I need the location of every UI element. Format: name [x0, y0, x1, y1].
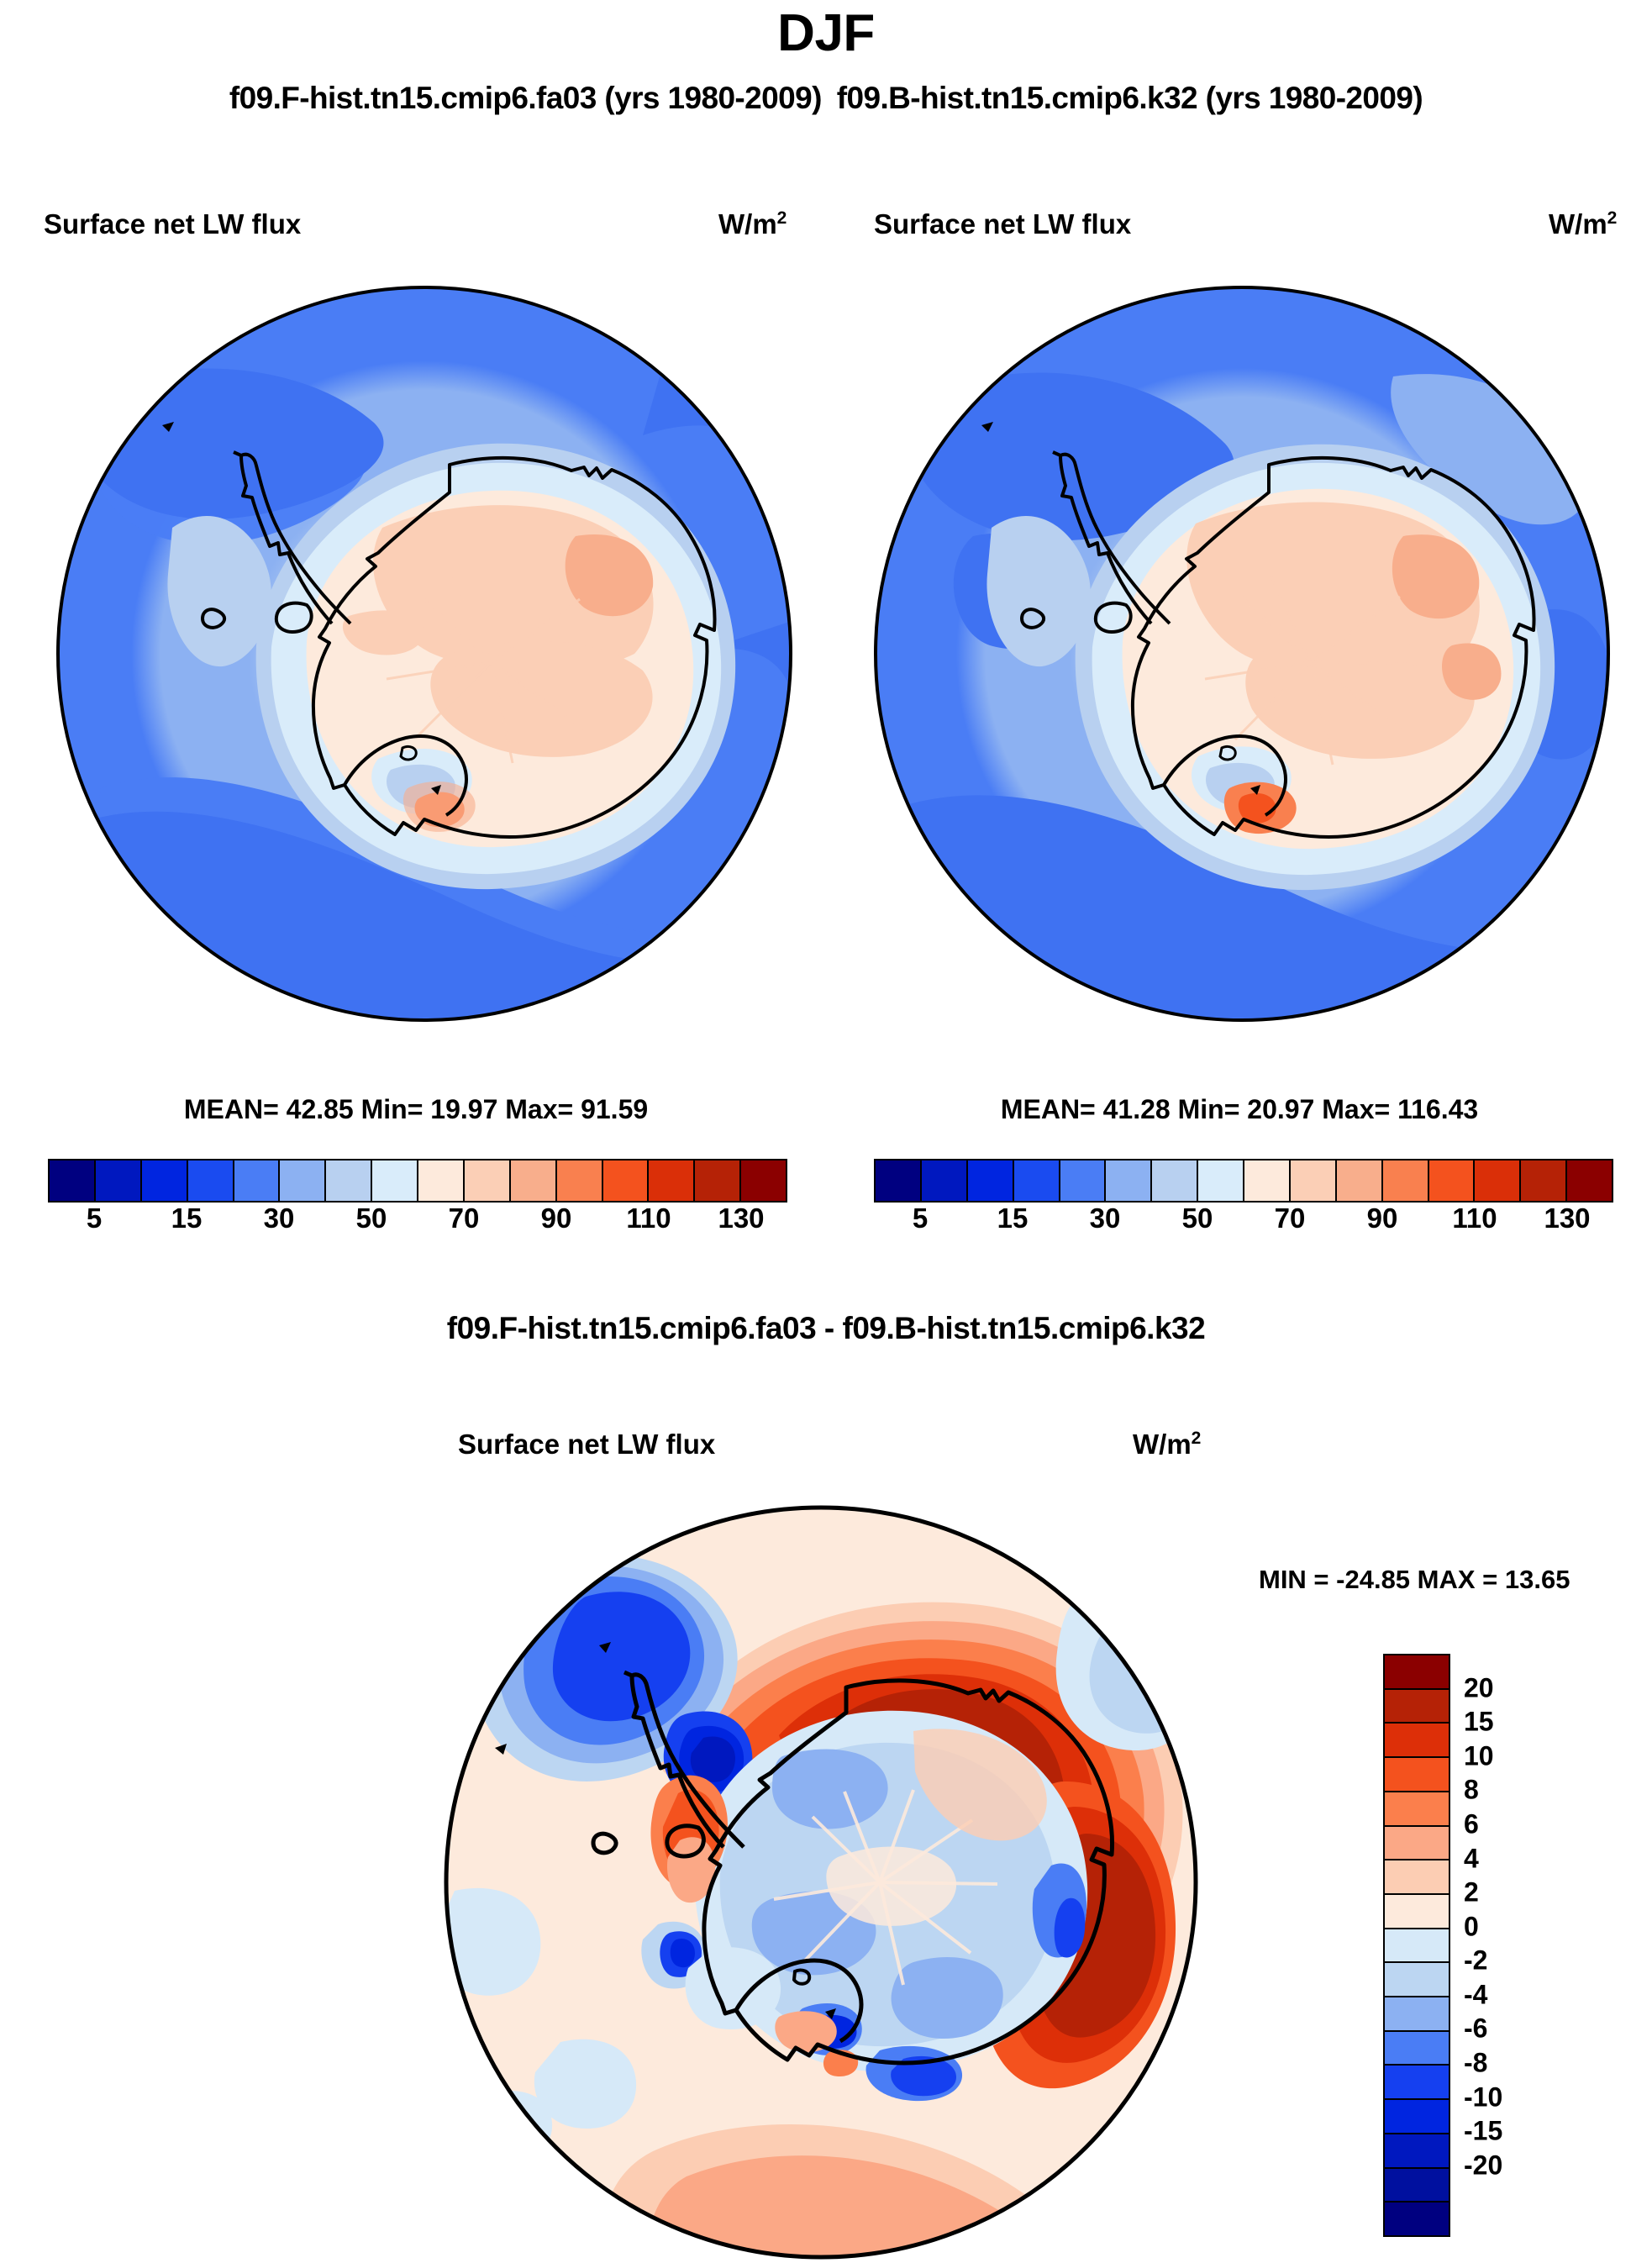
right-unit-exponent: 2: [1607, 208, 1618, 228]
colorbar-cell: [280, 1160, 326, 1201]
colorbar-cell: [1291, 1160, 1337, 1201]
left-panel-stats: MEAN= 42.85 Min= 19.97 Max= 91.59: [0, 1094, 832, 1125]
colorbar-cell: [1385, 2032, 1449, 2066]
colorbar-cell: [50, 1160, 96, 1201]
colorbar-cell: [1385, 2066, 1449, 2100]
colorbar-tick-label: 50: [1182, 1203, 1213, 1234]
colorbar-tick-label: 15: [171, 1203, 203, 1234]
diff-map-svg: [443, 1504, 1199, 2260]
colorbar-tick-label: 90: [1367, 1203, 1398, 1234]
colorbar-cell: [1383, 1160, 1429, 1201]
diff-panel-unit-label: W/m2: [1133, 1429, 1201, 1460]
colorbar-cell: [1521, 1160, 1567, 1201]
left-colorbar[interactable]: 51530507090110130: [48, 1159, 787, 1243]
colorbar-cell: [1385, 1792, 1449, 1827]
left-map-svg: [55, 284, 794, 1024]
colorbar-tick-label: 0: [1464, 1911, 1479, 1942]
colorbar-cell: [1385, 1929, 1449, 1964]
colorbar-cell: [1385, 1895, 1449, 1929]
colorbar-tick-label: 130: [718, 1203, 764, 1234]
colorbar-tick-label: -15: [1464, 2116, 1502, 2147]
right-map-svg: [872, 284, 1612, 1024]
colorbar-cell: [1385, 1827, 1449, 1861]
colorbar-cell: [1385, 1758, 1449, 1792]
diff-colorbar[interactable]: [1383, 1654, 1450, 2234]
right-unit-text: W/m: [1549, 208, 1607, 239]
right-colorbar[interactable]: 51530507090110130: [874, 1159, 1613, 1243]
colorbar-cell: [1385, 1724, 1449, 1758]
colorbar-cell: [511, 1160, 557, 1201]
colorbar-tick-label: -4: [1464, 1979, 1487, 2010]
colorbar-cell: [1106, 1160, 1152, 1201]
colorbar-tick-label: 15: [1464, 1707, 1494, 1738]
colorbar-tick-label: -6: [1464, 2013, 1487, 2045]
colorbar-tick-label: 5: [913, 1203, 928, 1234]
colorbar-cell: [1385, 1655, 1449, 1690]
colorbar-tick-label: -20: [1464, 2150, 1502, 2181]
left-panel-field-label: Surface net LW flux: [44, 208, 301, 240]
diff-unit-text: W/m: [1133, 1429, 1192, 1460]
colorbar-cell: [326, 1160, 372, 1201]
colorbar-cell: [188, 1160, 234, 1201]
colorbar-cell: [1385, 2169, 1449, 2203]
colorbar-tick-label: 10: [1464, 1740, 1494, 1771]
left-unit-text: W/m: [718, 208, 777, 239]
colorbar-tick-label: 2: [1464, 1877, 1479, 1908]
colorbar-cell: [649, 1160, 695, 1201]
right-panel-unit-label: W/m2: [1549, 208, 1617, 240]
colorbar-tick-label: 90: [541, 1203, 572, 1234]
colorbar-cell: [1385, 1860, 1449, 1895]
difference-title: f09.F-hist.tn15.cmip6.fa03 - f09.B-hist.…: [0, 1311, 1652, 1346]
colorbar-cell: [557, 1160, 603, 1201]
colorbar-cell: [465, 1160, 511, 1201]
colorbar-cell: [1244, 1160, 1291, 1201]
colorbar-cell: [418, 1160, 465, 1201]
colorbar-tick-label: -10: [1464, 2081, 1502, 2113]
diff-panel-field-label: Surface net LW flux: [458, 1429, 715, 1460]
colorbar-tick-label: 50: [356, 1203, 387, 1234]
colorbar-tick-label: 110: [626, 1203, 671, 1234]
page-title: DJF: [0, 3, 1652, 63]
colorbar-cell: [1385, 1690, 1449, 1724]
diff-minmax-label: MIN = -24.85 MAX = 13.65: [1259, 1565, 1570, 1595]
colorbar-cell: [234, 1160, 281, 1201]
diff-colorbar-ticks: 20151086420-2-4-6-8-10-15-20: [1464, 1654, 1590, 2234]
left-map-panel[interactable]: [55, 284, 794, 1024]
colorbar-tick-label: -8: [1464, 2048, 1487, 2079]
colorbar-tick-label: -2: [1464, 1945, 1487, 1976]
colorbar-cell: [1152, 1160, 1198, 1201]
colorbar-tick-label: 30: [264, 1203, 295, 1234]
colorbar-tick-label: 8: [1464, 1775, 1479, 1806]
colorbar-cell: [876, 1160, 922, 1201]
left-panel-unit-label: W/m2: [718, 208, 787, 240]
case-titles-row: f09.F-hist.tn15.cmip6.fa03 (yrs 1980-200…: [0, 81, 1652, 116]
diff-map-panel[interactable]: [443, 1504, 1199, 2260]
colorbar-tick-label: 5: [87, 1203, 102, 1234]
right-panel-stats: MEAN= 41.28 Min= 20.97 Max= 116.43: [823, 1094, 1652, 1125]
colorbar-cell: [372, 1160, 418, 1201]
colorbar-cell: [1385, 2134, 1449, 2169]
left-colorbar-strip[interactable]: [48, 1159, 787, 1203]
colorbar-cell: [142, 1160, 188, 1201]
colorbar-tick-label: 110: [1452, 1203, 1497, 1234]
colorbar-cell: [1385, 2100, 1449, 2134]
colorbar-tick-label: 70: [1275, 1203, 1306, 1234]
case-title-right: f09.B-hist.tn15.cmip6.k32 (yrs 1980-2009…: [837, 81, 1423, 116]
colorbar-cell: [1567, 1160, 1612, 1201]
colorbar-tick-label: 6: [1464, 1808, 1479, 1839]
left-unit-exponent: 2: [777, 208, 787, 228]
colorbar-cell: [1198, 1160, 1244, 1201]
colorbar-tick-label: 4: [1464, 1843, 1479, 1874]
colorbar-tick-label: 130: [1544, 1203, 1590, 1234]
colorbar-cell: [1060, 1160, 1107, 1201]
colorbar-cell: [741, 1160, 786, 1201]
left-colorbar-ticks: 51530507090110130: [48, 1203, 787, 1243]
colorbar-cell: [922, 1160, 968, 1201]
colorbar-cell: [968, 1160, 1014, 1201]
colorbar-tick-label: 15: [997, 1203, 1029, 1234]
colorbar-tick-label: 70: [449, 1203, 480, 1234]
colorbar-cell: [1385, 1963, 1449, 1997]
colorbar-cell: [1385, 2202, 1449, 2235]
colorbar-cell: [1337, 1160, 1383, 1201]
colorbar-tick-label: 20: [1464, 1672, 1494, 1703]
colorbar-cell: [1014, 1160, 1060, 1201]
right-colorbar-ticks: 51530507090110130: [874, 1203, 1613, 1243]
diff-colorbar-strip[interactable]: [1383, 1654, 1450, 2237]
right-colorbar-strip[interactable]: [874, 1159, 1613, 1203]
colorbar-tick-label: 30: [1090, 1203, 1121, 1234]
right-panel-field-label: Surface net LW flux: [874, 208, 1131, 240]
colorbar-cell: [96, 1160, 142, 1201]
right-map-panel[interactable]: [872, 284, 1612, 1024]
colorbar-cell: [603, 1160, 650, 1201]
case-title-left: f09.F-hist.tn15.cmip6.fa03 (yrs 1980-200…: [229, 81, 822, 116]
colorbar-cell: [1385, 1997, 1449, 2032]
diff-unit-exponent: 2: [1192, 1429, 1202, 1448]
colorbar-cell: [1475, 1160, 1521, 1201]
colorbar-cell: [1429, 1160, 1476, 1201]
colorbar-cell: [695, 1160, 741, 1201]
